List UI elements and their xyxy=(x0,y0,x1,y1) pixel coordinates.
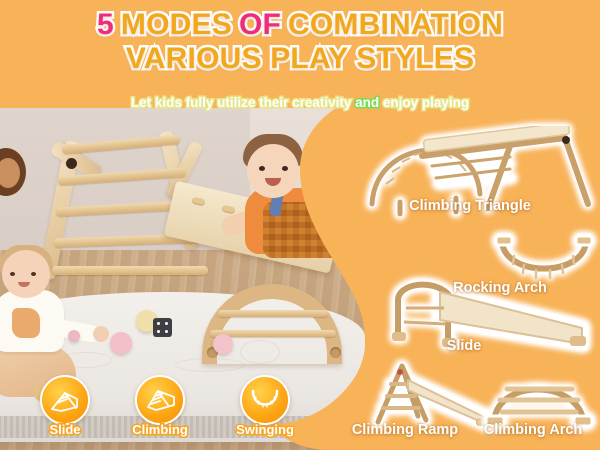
feature-badge-label-swinging: Swinging xyxy=(236,422,294,437)
product-climbing-arch xyxy=(480,368,600,430)
ad-canvas: 5MODESOFCOMBINATION VARIOUS PLAY STYLES … xyxy=(0,0,600,450)
headline-number: 5 xyxy=(97,8,114,41)
feature-badge-label-climbing: Climbing xyxy=(132,422,188,437)
product-label-slide: Slide xyxy=(447,338,482,354)
swing-arch-icon xyxy=(249,387,281,413)
headline-modes: MODES xyxy=(121,8,232,41)
feature-badge-slide[interactable] xyxy=(40,375,90,425)
headline-of: OF xyxy=(239,8,281,41)
subtitle-highlight: and xyxy=(355,95,379,110)
subtitle: Let kids fully utilize their creativity … xyxy=(0,95,600,110)
feature-badge-climbing[interactable] xyxy=(135,375,185,425)
subtitle-part-1: Let kids fully utilize their creativity xyxy=(131,95,355,110)
product-label-climbing-ramp: Climbing Ramp xyxy=(352,422,458,438)
feature-badge-swinging[interactable] xyxy=(240,375,290,425)
product-label-rocking-arch: Rocking Arch xyxy=(453,280,547,296)
headline: 5MODESOFCOMBINATION VARIOUS PLAY STYLES xyxy=(0,10,600,74)
subtitle-part-2: enjoy playing xyxy=(379,95,469,110)
headline-combination: COMBINATION xyxy=(288,8,503,41)
headline-line-2: VARIOUS PLAY STYLES xyxy=(0,44,600,74)
slide-icon xyxy=(49,385,81,415)
product-label-climbing-triangle: Climbing Triangle xyxy=(409,198,531,214)
product-label-climbing-arch: Climbing Arch xyxy=(484,422,583,438)
headline-line-1: 5MODESOFCOMBINATION xyxy=(0,10,600,40)
climbing-icon xyxy=(144,385,176,415)
feature-badge-label-slide: Slide xyxy=(49,422,80,437)
